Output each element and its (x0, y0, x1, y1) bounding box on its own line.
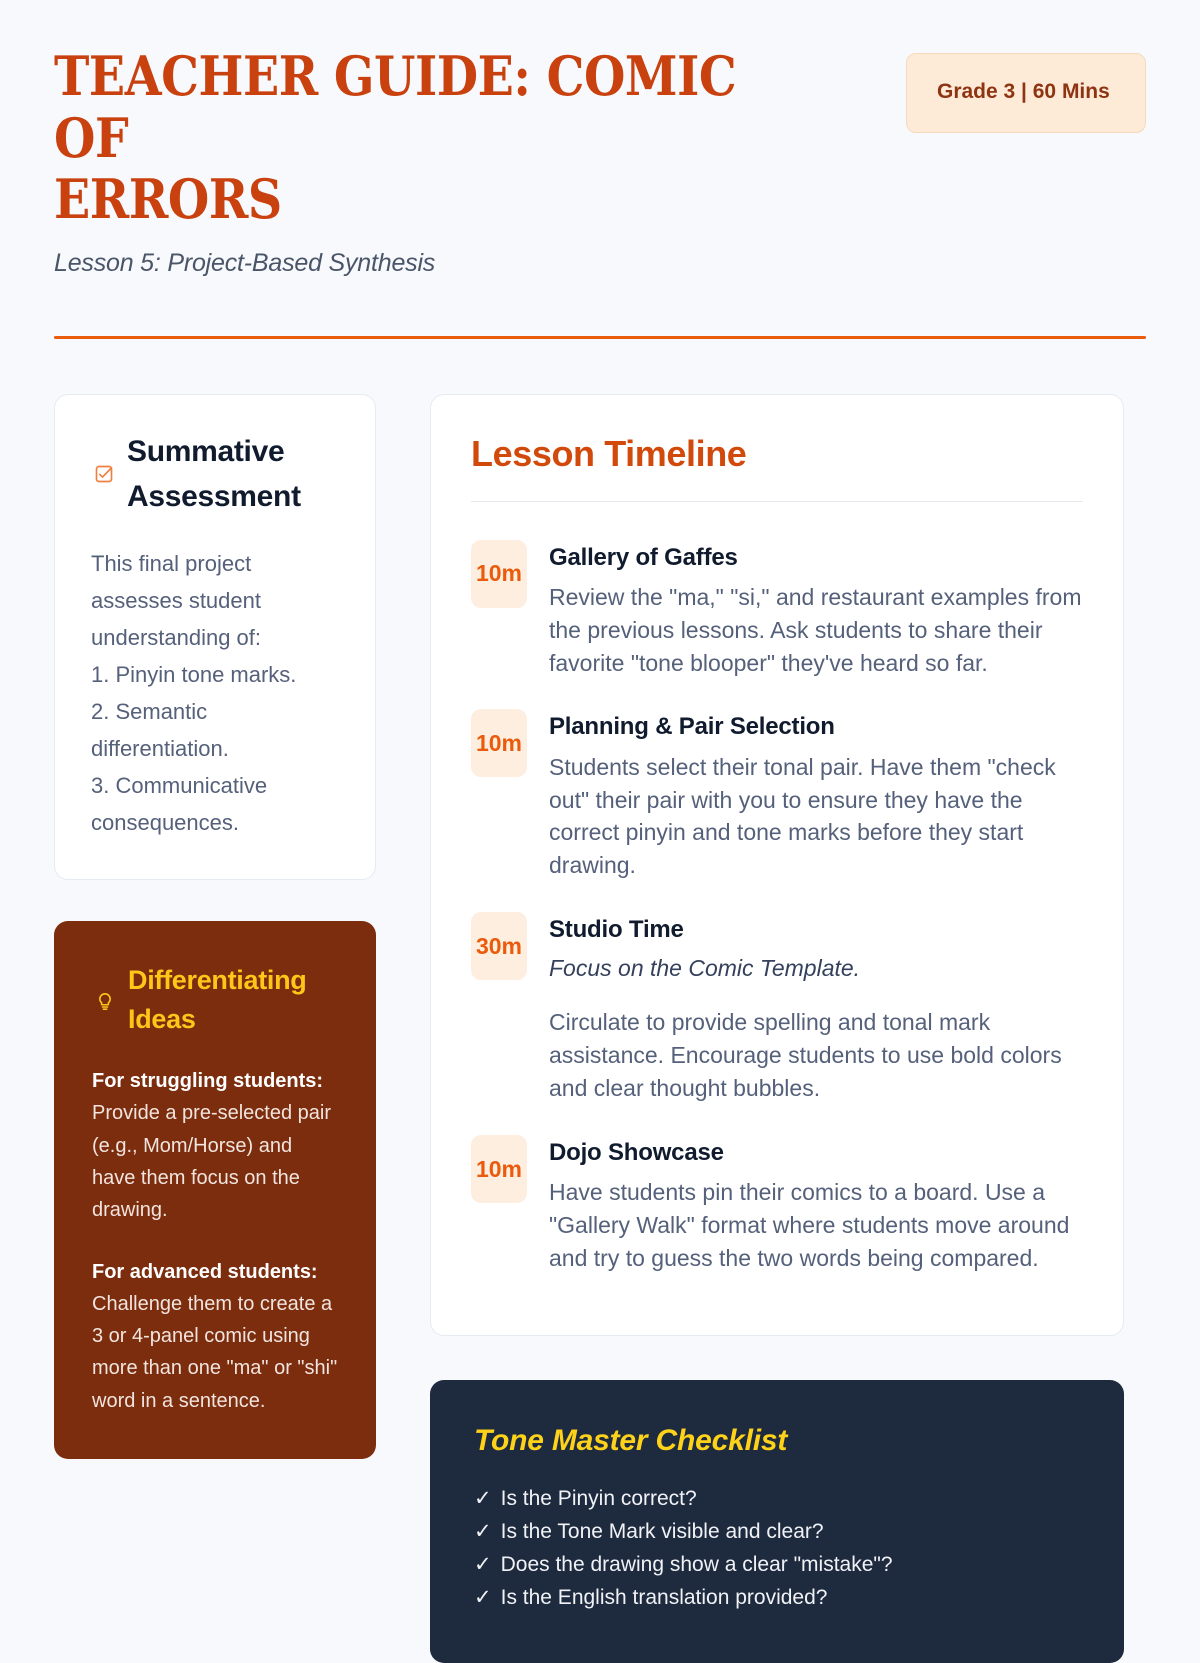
timeline-item-description: Students select their tonal pair. Have t… (549, 751, 1083, 883)
timeline-item-description: Review the "ma," "si," and restaurant ex… (549, 581, 1083, 680)
timeline-item-content: Dojo Showcase Have students pin their co… (549, 1135, 1083, 1275)
timeline-duration-badge: 10m (471, 709, 527, 777)
timeline-item-content: Studio Time Focus on the Comic Template.… (549, 912, 1083, 1105)
page-title: TEACHER GUIDE: COMIC OF ERRORS (54, 46, 758, 231)
differentiating-block-label: For struggling students: (92, 1066, 338, 1097)
grade-duration-badge: Grade 3 | 60 Mins (906, 53, 1146, 133)
timeline-item-description: Have students pin their comics to a boar… (549, 1176, 1083, 1275)
timeline-item-content: Planning & Pair Selection Students selec… (549, 709, 1083, 882)
checkbox-check-icon (91, 464, 117, 484)
differentiating-block-text: Provide a pre-selected pair (e.g., Mom/H… (92, 1097, 338, 1227)
timeline-item-title: Gallery of Gaffes (549, 542, 1083, 573)
differentiating-block-label: For advanced students: (92, 1257, 338, 1288)
timeline-item-title: Planning & Pair Selection (549, 711, 1083, 742)
sidebar-column: Summative Assessment This final project … (54, 394, 376, 1460)
timeline-item: 30m Studio Time Focus on the Comic Templ… (471, 898, 1083, 1121)
timeline-item-description: Circulate to provide spelling and tonal … (549, 1006, 1083, 1105)
page-header: TEACHER GUIDE: COMIC OF ERRORS Lesson 5:… (54, 0, 1146, 278)
differentiating-ideas-card: Differentiating Ideas For struggling stu… (54, 921, 376, 1459)
assessment-card-body: This final project assesses student unde… (91, 546, 339, 842)
page-subtitle: Lesson 5: Project-Based Synthesis (54, 249, 854, 278)
checklist-items: ✓ Is the Pinyin correct? ✓ Is the Tone M… (474, 1482, 1080, 1615)
timeline-divider (471, 501, 1083, 502)
timeline-item-title: Studio Time (549, 914, 1083, 945)
timeline-duration-badge: 30m (471, 912, 527, 980)
checklist-item-label: Is the Tone Mark visible and clear? (501, 1515, 824, 1548)
differentiating-card-title: Differentiating Ideas (128, 961, 338, 1038)
differentiating-card-header: Differentiating Ideas (92, 961, 338, 1038)
timeline-item: 10m Gallery of Gaffes Review the "ma," "… (471, 526, 1083, 696)
summative-assessment-card: Summative Assessment This final project … (54, 394, 376, 881)
checklist-item: ✓ Is the Pinyin correct? (474, 1482, 1080, 1515)
timeline-item: 10m Dojo Showcase Have students pin thei… (471, 1121, 1083, 1291)
check-icon: ✓ (474, 1581, 492, 1614)
main-columns: Summative Assessment This final project … (54, 394, 1146, 1663)
timeline-item-content: Gallery of Gaffes Review the "ma," "si,"… (549, 540, 1083, 680)
checklist-item-label: Is the Pinyin correct? (501, 1482, 697, 1515)
header-divider (54, 336, 1146, 339)
timeline-duration-badge: 10m (471, 540, 527, 608)
checklist-item-label: Does the drawing show a clear "mistake"? (501, 1548, 893, 1581)
checklist-item: ✓ Is the English translation provided? (474, 1581, 1080, 1614)
check-icon: ✓ (474, 1515, 492, 1548)
timeline-duration-badge: 10m (471, 1135, 527, 1203)
content-column: Lesson Timeline 10m Gallery of Gaffes Re… (430, 394, 1124, 1663)
differentiating-block: For struggling students: Provide a pre-s… (92, 1066, 338, 1227)
timeline-list: 10m Gallery of Gaffes Review the "ma," "… (471, 526, 1083, 1291)
assessment-card-header: Summative Assessment (91, 429, 339, 520)
timeline-item-title: Dojo Showcase (549, 1137, 1083, 1168)
assessment-card-title: Summative Assessment (127, 429, 339, 520)
teacher-guide-page: TEACHER GUIDE: COMIC OF ERRORS Lesson 5:… (0, 0, 1200, 1600)
timeline-item: 10m Planning & Pair Selection Students s… (471, 695, 1083, 898)
lesson-timeline-title: Lesson Timeline (471, 433, 1083, 475)
check-icon: ✓ (474, 1548, 492, 1581)
header-text-group: TEACHER GUIDE: COMIC OF ERRORS Lesson 5:… (54, 46, 854, 278)
lesson-timeline-card: Lesson Timeline 10m Gallery of Gaffes Re… (430, 394, 1124, 1336)
check-icon: ✓ (474, 1482, 492, 1515)
checklist-item: ✓ Is the Tone Mark visible and clear? (474, 1515, 1080, 1548)
lightbulb-icon (92, 989, 118, 1011)
differentiating-block: For advanced students: Challenge them to… (92, 1257, 338, 1418)
timeline-item-subtitle: Focus on the Comic Template. (549, 953, 1083, 984)
differentiating-block-text: Challenge them to create a 3 or 4-panel … (92, 1288, 338, 1418)
tone-master-checklist-panel: Tone Master Checklist ✓ Is the Pinyin co… (430, 1380, 1124, 1663)
checklist-title: Tone Master Checklist (474, 1424, 1080, 1458)
checklist-item: ✓ Does the drawing show a clear "mistake… (474, 1548, 1080, 1581)
checklist-item-label: Is the English translation provided? (501, 1581, 828, 1614)
